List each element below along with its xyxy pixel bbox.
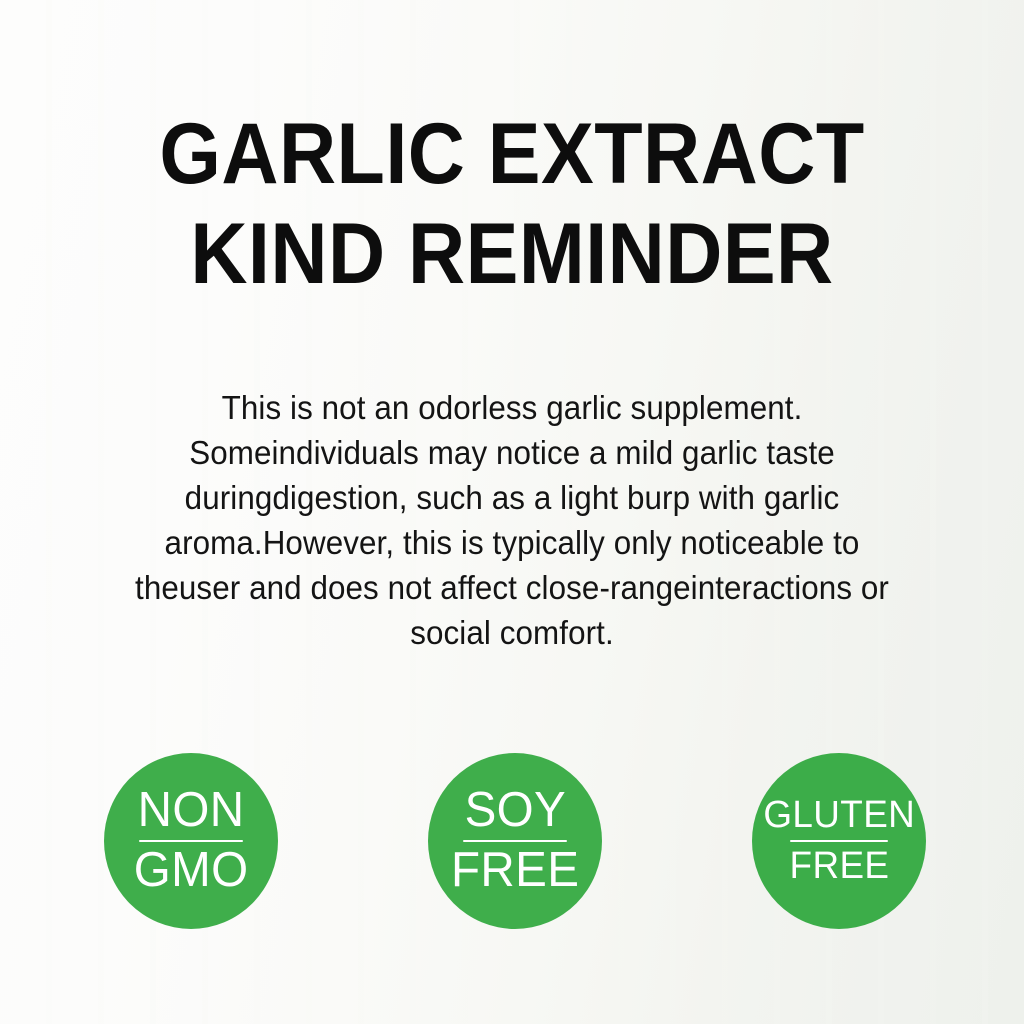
soy-free-badge-top-label: SOY [464,786,566,836]
soy-free-badge-bottom-label: FREE [451,846,579,896]
disclaimer-line: theuser and does not affect close-rangei… [75,565,949,610]
page-title-line-2: KIND REMINDER [41,204,983,304]
soy-free-badge: SOY FREE [428,753,602,929]
gluten-free-badge-bottom-label: FREE [789,847,889,886]
disclaimer-line: This is not an odorless garlic supplemen… [75,385,949,430]
disclaimer-line: aroma.However, this is typically only no… [75,520,949,565]
badge-divider-rule [139,840,243,842]
non-gmo-badge: NON GMO [104,753,278,929]
page-title: GARLIC EXTRACT KIND REMINDER [0,104,1024,304]
disclaimer-line: Someindividuals may notice a mild garlic… [75,430,949,475]
certification-badge-row: NON GMO SOY FREE GLUTEN FREE [0,753,1024,931]
badge-divider-rule [790,840,888,842]
gluten-free-badge: GLUTEN FREE [752,753,926,929]
non-gmo-badge-bottom-label: GMO [134,846,249,896]
badge-divider-rule [463,840,567,842]
disclaimer-paragraph: This is not an odorless garlic supplemen… [52,385,972,655]
disclaimer-line: duringdigestion, such as a light burp wi… [75,475,949,520]
gluten-free-badge-top-label: GLUTEN [763,796,915,835]
product-info-poster: GARLIC EXTRACT KIND REMINDER This is not… [0,0,1024,1024]
page-title-line-1: GARLIC EXTRACT [41,104,983,204]
disclaimer-line: social comfort. [75,610,949,655]
non-gmo-badge-top-label: NON [138,786,245,836]
